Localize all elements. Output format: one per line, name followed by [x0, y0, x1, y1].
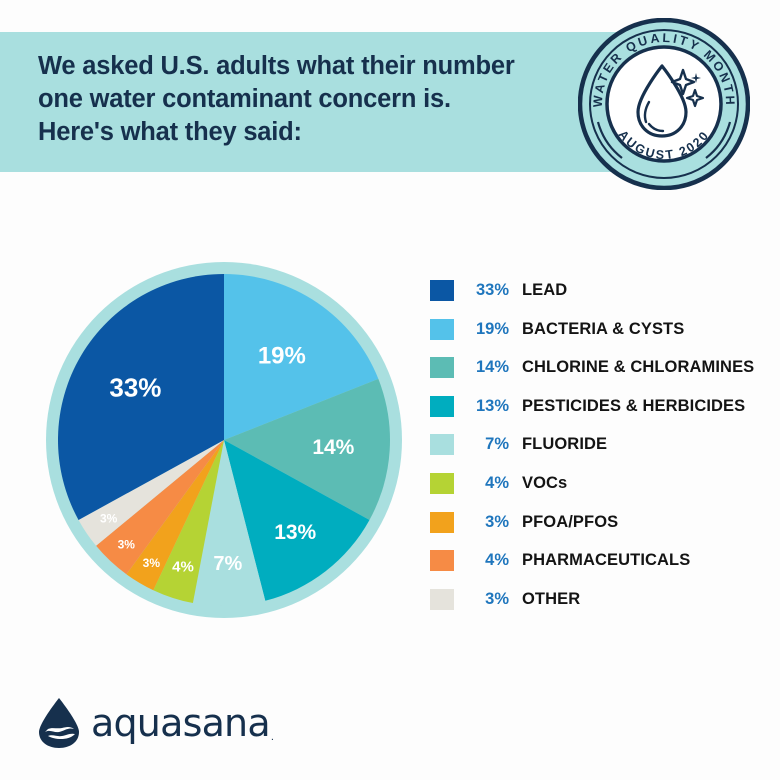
legend-percent: 13%: [463, 397, 509, 416]
pie-slice-label: 19%: [258, 342, 306, 369]
legend-item: 3%OTHER: [430, 587, 760, 612]
legend-percent: 14%: [463, 358, 509, 377]
badge-svg: WATER QUALITY MONTH AUGUST 2020: [578, 18, 750, 190]
pie-slice-label: 3%: [143, 556, 161, 570]
legend-percent: 4%: [463, 474, 509, 493]
legend-color-swatch: [430, 357, 454, 378]
chart-legend: 33%LEAD19%BACTERIA & CYSTS14%CHLORINE & …: [430, 278, 760, 625]
legend-item: 3%PFOA/PFOS: [430, 510, 760, 535]
pie-slice-label: 33%: [109, 373, 161, 403]
legend-color-swatch: [430, 434, 454, 455]
legend-item: 4%VOCs: [430, 471, 760, 496]
legend-label: LEAD: [522, 281, 567, 300]
legend-percent: 19%: [463, 320, 509, 339]
legend-label: PHARMACEUTICALS: [522, 551, 690, 570]
legend-percent: 7%: [463, 435, 509, 454]
pie-slice-label: 3%: [100, 512, 118, 526]
legend-percent: 3%: [463, 513, 509, 532]
legend-percent: 3%: [463, 590, 509, 609]
legend-color-swatch: [430, 589, 454, 610]
legend-color-swatch: [430, 512, 454, 533]
pie-slice-label: 3%: [118, 537, 136, 551]
legend-color-swatch: [430, 396, 454, 417]
pie-slice-label: 13%: [274, 521, 316, 544]
legend-label: PESTICIDES & HERBICIDES: [522, 397, 745, 416]
legend-label: FLUORIDE: [522, 435, 607, 454]
pie-slice-label: 7%: [213, 553, 242, 575]
legend-item: 14%CHLORINE & CHLORAMINES: [430, 355, 760, 380]
legend-label: PFOA/PFOS: [522, 513, 618, 532]
legend-item: 13%PESTICIDES & HERBICIDES: [430, 394, 760, 419]
legend-item: 33%LEAD: [430, 278, 760, 303]
legend-color-swatch: [430, 319, 454, 340]
pie-chart-svg: 19%14%13%7%4%3%3%3%33%: [38, 254, 410, 626]
legend-percent: 4%: [463, 551, 509, 570]
legend-item: 19%BACTERIA & CYSTS: [430, 317, 760, 342]
pie-slice-label: 4%: [172, 559, 194, 576]
legend-label: BACTERIA & CYSTS: [522, 320, 684, 339]
water-droplet-logo-icon: [36, 696, 82, 750]
legend-color-swatch: [430, 473, 454, 494]
page-title: We asked U.S. adults what their number o…: [38, 50, 578, 149]
pie-chart: 19%14%13%7%4%3%3%3%33%: [38, 254, 410, 626]
brand-trademark: .: [271, 731, 274, 743]
brand-logo: aquasana .: [36, 696, 274, 750]
legend-color-swatch: [430, 280, 454, 301]
legend-label: CHLORINE & CHLORAMINES: [522, 358, 754, 377]
brand-wordmark: aquasana: [91, 701, 270, 745]
pie-slice-label: 14%: [312, 436, 354, 459]
legend-label: VOCs: [522, 474, 567, 493]
water-quality-month-badge: WATER QUALITY MONTH AUGUST 2020: [578, 18, 750, 190]
legend-color-swatch: [430, 550, 454, 571]
legend-percent: 33%: [463, 281, 509, 300]
legend-item: 4%PHARMACEUTICALS: [430, 548, 760, 573]
legend-label: OTHER: [522, 590, 580, 609]
legend-item: 7%FLUORIDE: [430, 432, 760, 457]
